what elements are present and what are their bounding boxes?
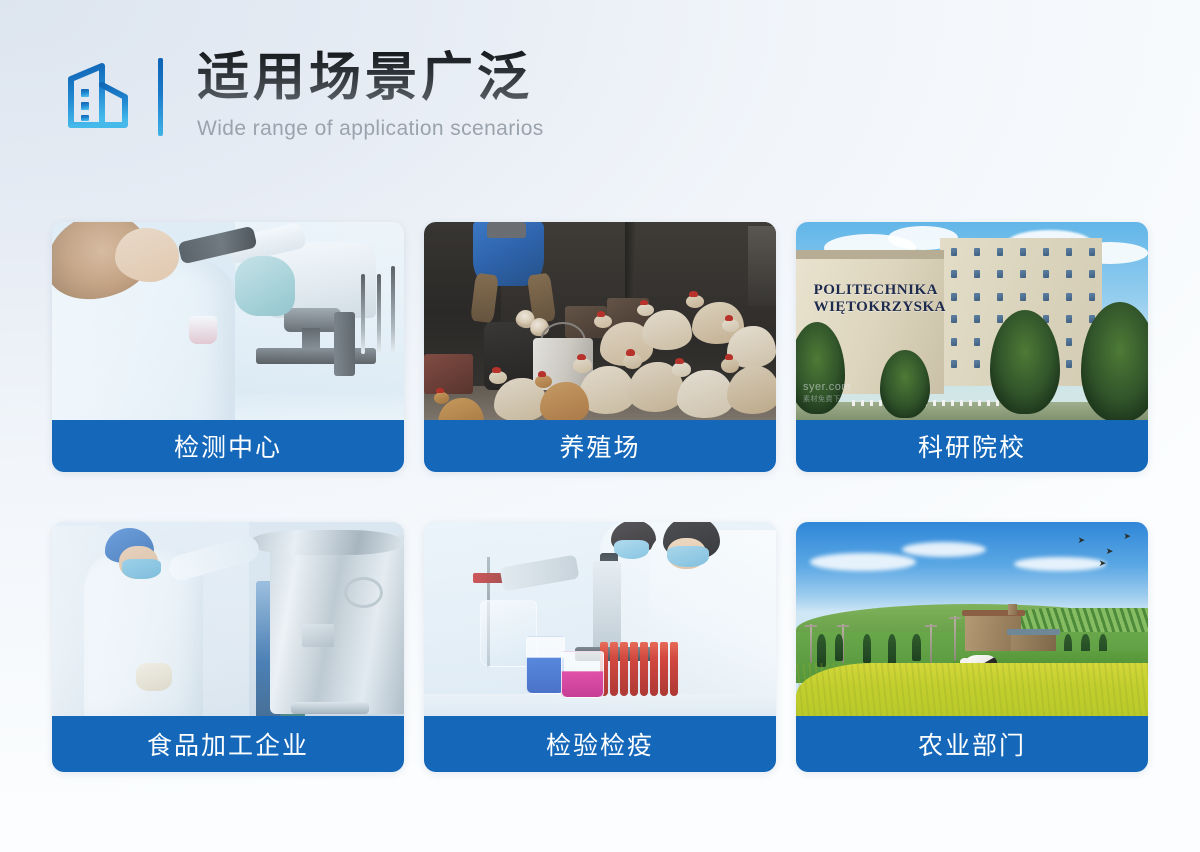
- header-divider: [158, 58, 163, 136]
- building-sign-line1: POLITECHNIKA: [814, 282, 983, 299]
- card-caption-inspection-center: 检测中心: [52, 420, 404, 472]
- page-subtitle: Wide range of application scenarios: [197, 116, 544, 141]
- card-caption-research-institute: 科研院校: [796, 420, 1148, 472]
- watermark-text: syer.com: [803, 381, 851, 393]
- card-image-inspection-quarantine: [424, 522, 776, 718]
- scene-food-plant: [52, 522, 404, 718]
- scene-microscope-lab: [52, 222, 404, 422]
- image-watermark: syer.com 素材免费下载可商用: [803, 380, 871, 404]
- building-icon: [62, 61, 134, 131]
- card-caption-breeding-farm: 养殖场: [424, 420, 776, 472]
- card-image-research-institute: POLITECHNIKA WIĘTOKRZYSKA syer.com 素材免费下…: [796, 222, 1148, 422]
- card-caption-inspection-quarantine: 检验检疫: [424, 716, 776, 772]
- card-inspection-quarantine[interactable]: 检验检疫: [424, 522, 776, 772]
- header-titles: 适用场景广泛 Wide range of application scenari…: [197, 49, 544, 141]
- card-image-food-processing: [52, 522, 404, 718]
- scene-poultry-farm: [424, 222, 776, 422]
- section-header: 适用场景广泛 Wide range of application scenari…: [0, 0, 1200, 190]
- card-caption-food-processing: 食品加工企业: [52, 716, 404, 772]
- card-research-institute[interactable]: POLITECHNIKA WIĘTOKRZYSKA syer.com 素材免费下…: [796, 222, 1148, 472]
- card-agriculture-department[interactable]: ➤ ➤ ➤ ➤: [796, 522, 1148, 772]
- scene-quarantine-lab: [424, 522, 776, 718]
- card-image-inspection-center: [52, 222, 404, 422]
- building-sign: POLITECHNIKA WIĘTOKRZYSKA: [814, 282, 983, 316]
- watermark-subtext: 素材免费下载可商用: [803, 395, 871, 404]
- scene-university-campus: POLITECHNIKA WIĘTOKRZYSKA syer.com 素材免费下…: [796, 222, 1148, 422]
- building-sign-line2: WIĘTOKRZYSKA: [814, 299, 983, 316]
- scenario-card-grid: 检测中心: [52, 222, 1148, 772]
- card-inspection-center[interactable]: 检测中心: [52, 222, 404, 472]
- card-image-agriculture-department: ➤ ➤ ➤ ➤: [796, 522, 1148, 718]
- scene-countryside-farm: ➤ ➤ ➤ ➤: [796, 522, 1148, 718]
- card-food-processing[interactable]: 食品加工企业: [52, 522, 404, 772]
- card-image-breeding-farm: [424, 222, 776, 422]
- page-title: 适用场景广泛: [197, 49, 544, 107]
- card-caption-agriculture-department: 农业部门: [796, 716, 1148, 772]
- card-breeding-farm[interactable]: 养殖场: [424, 222, 776, 472]
